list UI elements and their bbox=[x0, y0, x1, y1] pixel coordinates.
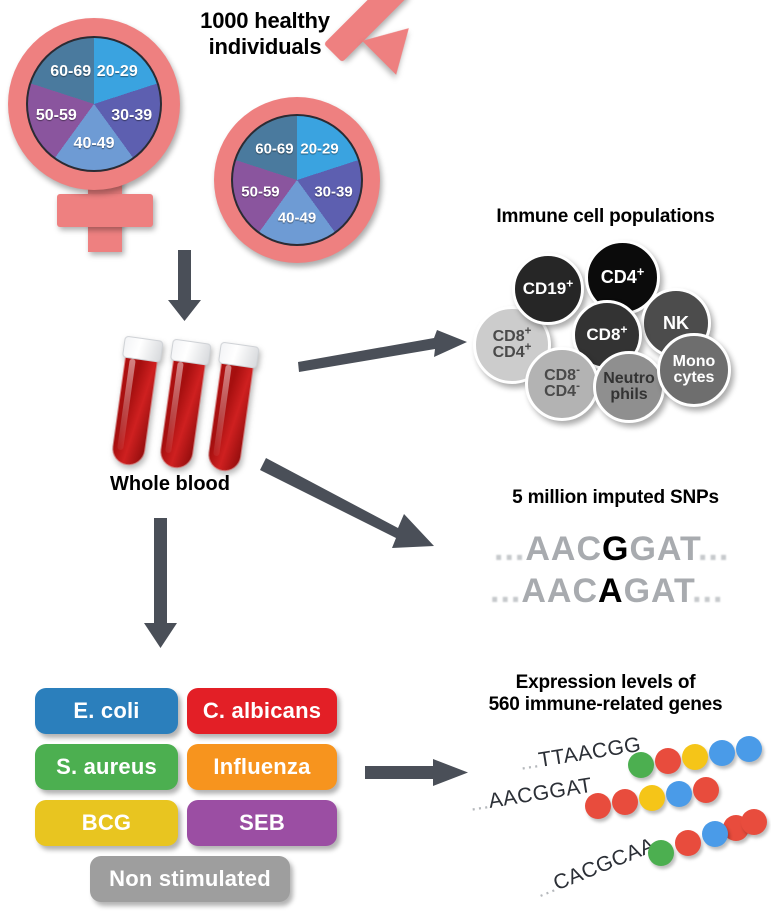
female-age-pie: 20-2930-3940-4950-5960-69 bbox=[26, 36, 162, 172]
immune-cell-cd8n-cd4n: CD8-CD4- bbox=[525, 347, 599, 421]
expression-bead bbox=[628, 752, 654, 778]
stimulus-influenza[interactable]: Influenza bbox=[187, 744, 337, 790]
snp-suffix: ... bbox=[692, 572, 723, 610]
male-pie-wedges: 20-2930-3940-4950-5960-69 bbox=[233, 116, 361, 244]
expression-bead bbox=[585, 793, 611, 819]
immune-cell-label: CD19+ bbox=[523, 280, 574, 297]
snp-highlight-allele: G bbox=[602, 530, 629, 568]
male-age-pie: 20-2930-3940-4950-5960-69 bbox=[231, 114, 363, 246]
age-group-label: 20-29 bbox=[300, 140, 338, 157]
blood-tube bbox=[158, 339, 208, 470]
expression-bead bbox=[639, 785, 665, 811]
stimulus-seb[interactable]: SEB bbox=[187, 800, 337, 846]
immune-cell-cd19p: CD19+ bbox=[512, 253, 584, 325]
snp-sequence-row: ...AACAGAT... bbox=[490, 572, 723, 611]
female-pie-wedges: 20-2930-3940-4950-5960-69 bbox=[28, 38, 160, 170]
snp-after: GAT bbox=[624, 572, 692, 610]
arrow-blood-to-snps bbox=[258, 450, 456, 558]
snp-after: GAT bbox=[629, 530, 697, 568]
snp-suffix: ... bbox=[698, 530, 729, 568]
snp-before: AAC bbox=[525, 530, 602, 568]
age-group-label: 50-59 bbox=[241, 183, 279, 200]
sequence-bases: CACGCAA bbox=[550, 834, 658, 896]
immune-cell-label: CD8+CD4+ bbox=[493, 329, 532, 362]
snp-prefix: ... bbox=[494, 530, 525, 568]
arrow-cohort-to-blood bbox=[160, 250, 210, 322]
expression-bead bbox=[682, 744, 708, 770]
age-group-label: 40-49 bbox=[278, 210, 316, 227]
age-group-label: 50-59 bbox=[36, 107, 77, 125]
immune-heading: Immune cell populations bbox=[440, 206, 771, 228]
sequence-bases: AACGGAT bbox=[487, 774, 594, 813]
stimulus-c-albicans[interactable]: C. albicans bbox=[187, 688, 337, 734]
expression-strand-sequence: ...TTAACGG bbox=[518, 733, 643, 776]
immune-cell-label: Monocytes bbox=[673, 354, 716, 387]
expression-bead bbox=[741, 809, 767, 835]
stimulus-label: S. aureus bbox=[56, 754, 157, 780]
stimulus-label: Influenza bbox=[213, 754, 310, 780]
blood-tube bbox=[110, 336, 160, 467]
stimulus-label: E. coli bbox=[73, 698, 139, 724]
snp-sequence-row: ...AACGGAT... bbox=[494, 530, 729, 569]
expression-heading-line1: Expression levels of bbox=[440, 672, 771, 694]
expression-heading-line2: 560 immune-related genes bbox=[440, 694, 771, 716]
stimulus-s-aureus[interactable]: S. aureus bbox=[35, 744, 178, 790]
expression-strand-sequence: ...CACGCAA bbox=[533, 834, 659, 904]
snp-prefix: ... bbox=[490, 572, 521, 610]
age-group-label: 40-49 bbox=[74, 135, 115, 153]
stimulus-label: Non stimulated bbox=[109, 866, 271, 892]
age-group-label: 60-69 bbox=[50, 63, 91, 81]
expression-strand-sequence: ...AACGGAT bbox=[468, 774, 594, 817]
immune-cell-label: Neutrophils bbox=[603, 371, 655, 404]
immune-cell-label: NK bbox=[663, 314, 689, 332]
arrow-stimuli-to-expression bbox=[365, 755, 471, 791]
immune-cell-label: CD8+ bbox=[586, 326, 627, 343]
immune-cell-label: CD8-CD4- bbox=[544, 368, 580, 401]
whole-blood-label: Whole blood bbox=[60, 473, 280, 496]
age-group-label: 60-69 bbox=[255, 140, 293, 157]
expression-bead bbox=[666, 781, 692, 807]
diagram-canvas: 1000 healthy individuals 20-2930-3940-49… bbox=[0, 0, 771, 922]
expression-heading: Expression levels of 560 immune-related … bbox=[440, 672, 771, 716]
blood-tube bbox=[206, 342, 256, 473]
stimulus-label: BCG bbox=[82, 810, 132, 836]
expression-bead bbox=[612, 789, 638, 815]
age-group-label: 30-39 bbox=[314, 183, 352, 200]
female-stem-horizontal bbox=[57, 194, 153, 227]
expression-bead bbox=[736, 736, 762, 762]
immune-cell-label: CD4+ bbox=[601, 268, 645, 286]
expression-bead bbox=[675, 830, 701, 856]
snps-heading: 5 million imputed SNPs bbox=[460, 487, 771, 509]
arrow-blood-to-immune bbox=[298, 318, 470, 382]
immune-cell-monocytes: Monocytes bbox=[657, 333, 731, 407]
stimulus-non-stimulated[interactable]: Non stimulated bbox=[90, 856, 290, 902]
snp-highlight-allele: A bbox=[598, 572, 624, 610]
age-group-label: 30-39 bbox=[111, 107, 152, 125]
immune-cell-neutrophils: Neutrophils bbox=[593, 351, 665, 423]
expression-bead bbox=[655, 748, 681, 774]
expression-bead bbox=[702, 821, 728, 847]
snp-before: AAC bbox=[521, 572, 598, 610]
age-group-label: 20-29 bbox=[97, 63, 138, 81]
expression-bead bbox=[709, 740, 735, 766]
expression-bead bbox=[693, 777, 719, 803]
stimulus-label: SEB bbox=[239, 810, 285, 836]
expression-bead bbox=[648, 840, 674, 866]
stimulus-label: C. albicans bbox=[203, 698, 321, 724]
sequence-bases: TTAACGG bbox=[537, 733, 643, 772]
arrow-blood-to-stimuli bbox=[130, 518, 200, 650]
stimulus-e-coli[interactable]: E. coli bbox=[35, 688, 178, 734]
stimulus-bcg[interactable]: BCG bbox=[35, 800, 178, 846]
